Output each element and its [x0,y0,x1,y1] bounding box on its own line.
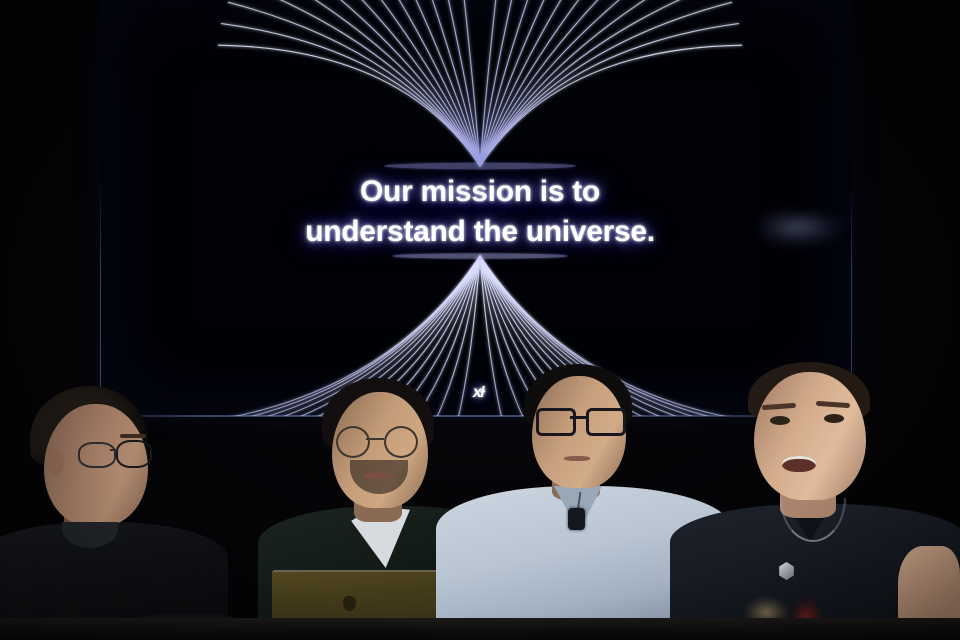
mission-headline-line-1: Our mission is to [0,172,960,212]
panelist-1-glasses-left-lens [78,442,116,468]
panelist-3-glasses-bridge [570,416,586,419]
panelist-3-glasses-left-lens [536,408,576,436]
mission-headline: Our mission is to understand the univers… [0,172,960,252]
panelist-3-glasses-right-lens [586,408,626,436]
panelist-1-glasses-bridge [110,449,118,451]
panelist-2-glasses-right-lens [384,426,418,458]
panelist-4-right-eye [824,414,844,423]
panelist-4-left-eye [770,416,790,425]
panelist-4-mouth [782,456,816,472]
panelist-1-glasses-right-lens [116,440,152,468]
panelist-4-head [754,372,866,500]
panelist-1-ear [47,450,64,475]
panelist-3 [478,364,702,640]
panelist-3-mouth [564,456,590,461]
panelist-1-eyebrow [120,434,146,438]
mission-headline-line-2: understand the universe. [0,212,960,252]
lapel-microphone [568,508,585,530]
video-frame: Our mission is to understand the univers… [0,0,960,640]
panelist-2-glasses-left-lens [336,426,370,458]
panelist-1 [0,386,238,640]
panelist-2-mouth [364,472,392,479]
panelist-2-glasses-bridge [366,438,384,440]
table [0,618,960,640]
